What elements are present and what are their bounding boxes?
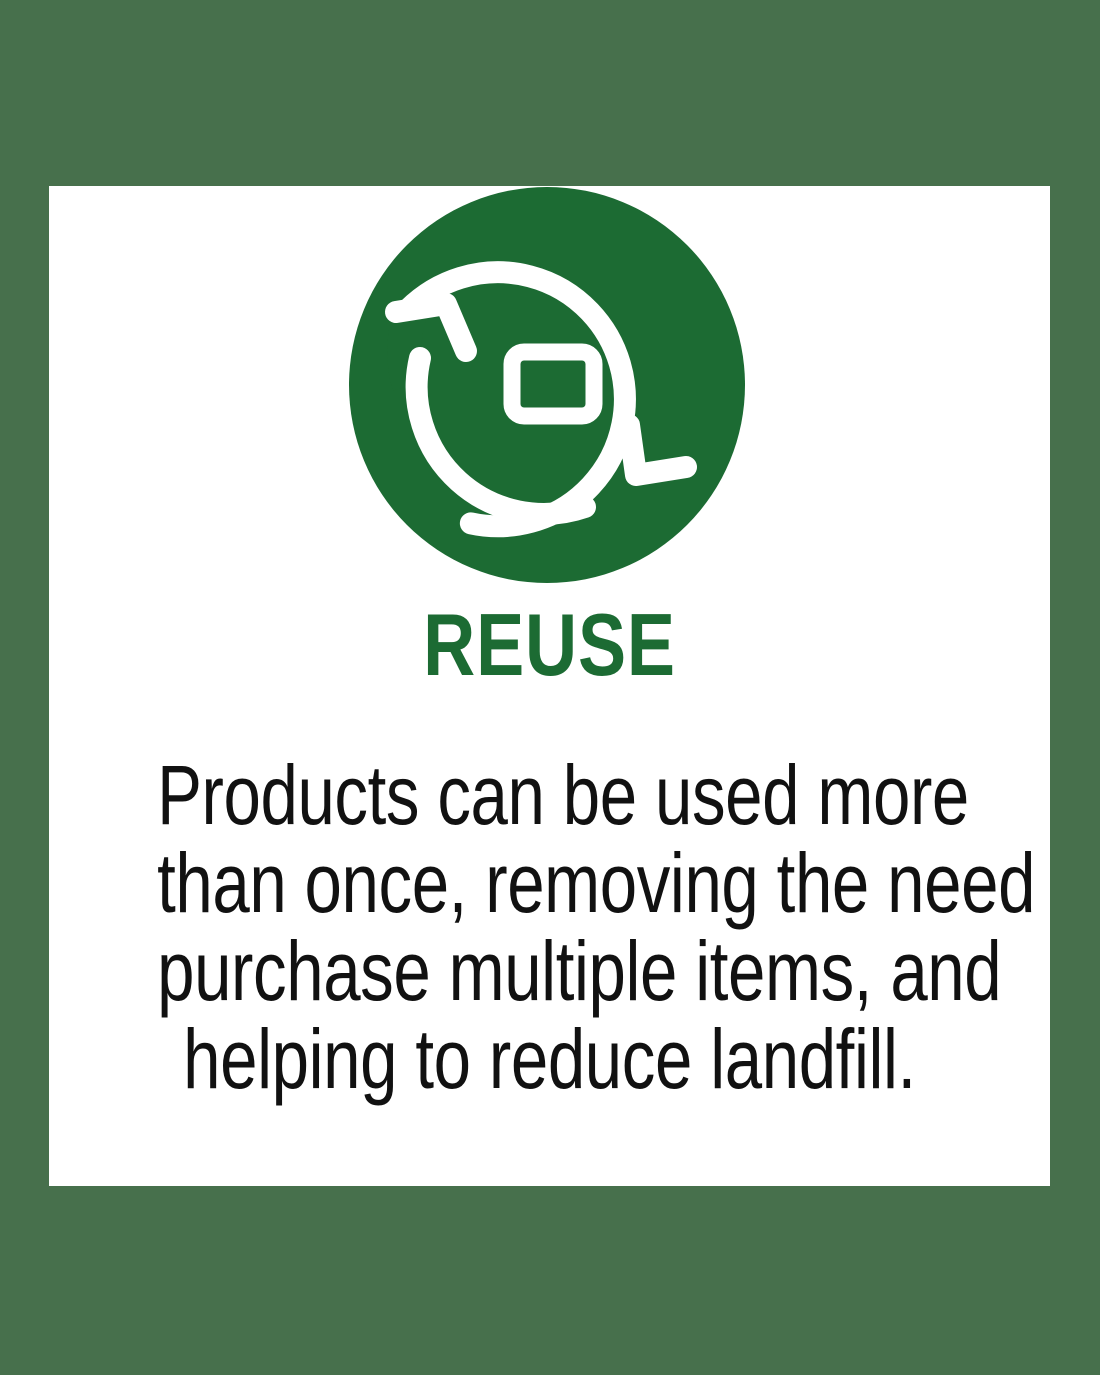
reuse-cycle-icon	[349, 187, 745, 583]
body-line-3: purchase multiple items, and	[157, 927, 942, 1015]
body-paragraph: Products can be used more than once, rem…	[157, 751, 942, 1103]
body-line-1: Products can be used more	[157, 751, 942, 839]
reuse-info-card: REUSE Products can be used more than onc…	[49, 186, 1050, 1186]
reuse-cycle-icon-svg	[349, 187, 745, 583]
body-line-4: helping to reduce landfill.	[157, 1015, 942, 1103]
page-title: REUSE	[139, 601, 960, 689]
body-line-2: than once, removing the need to	[157, 839, 942, 927]
page-background: REUSE Products can be used more than onc…	[0, 0, 1100, 1375]
